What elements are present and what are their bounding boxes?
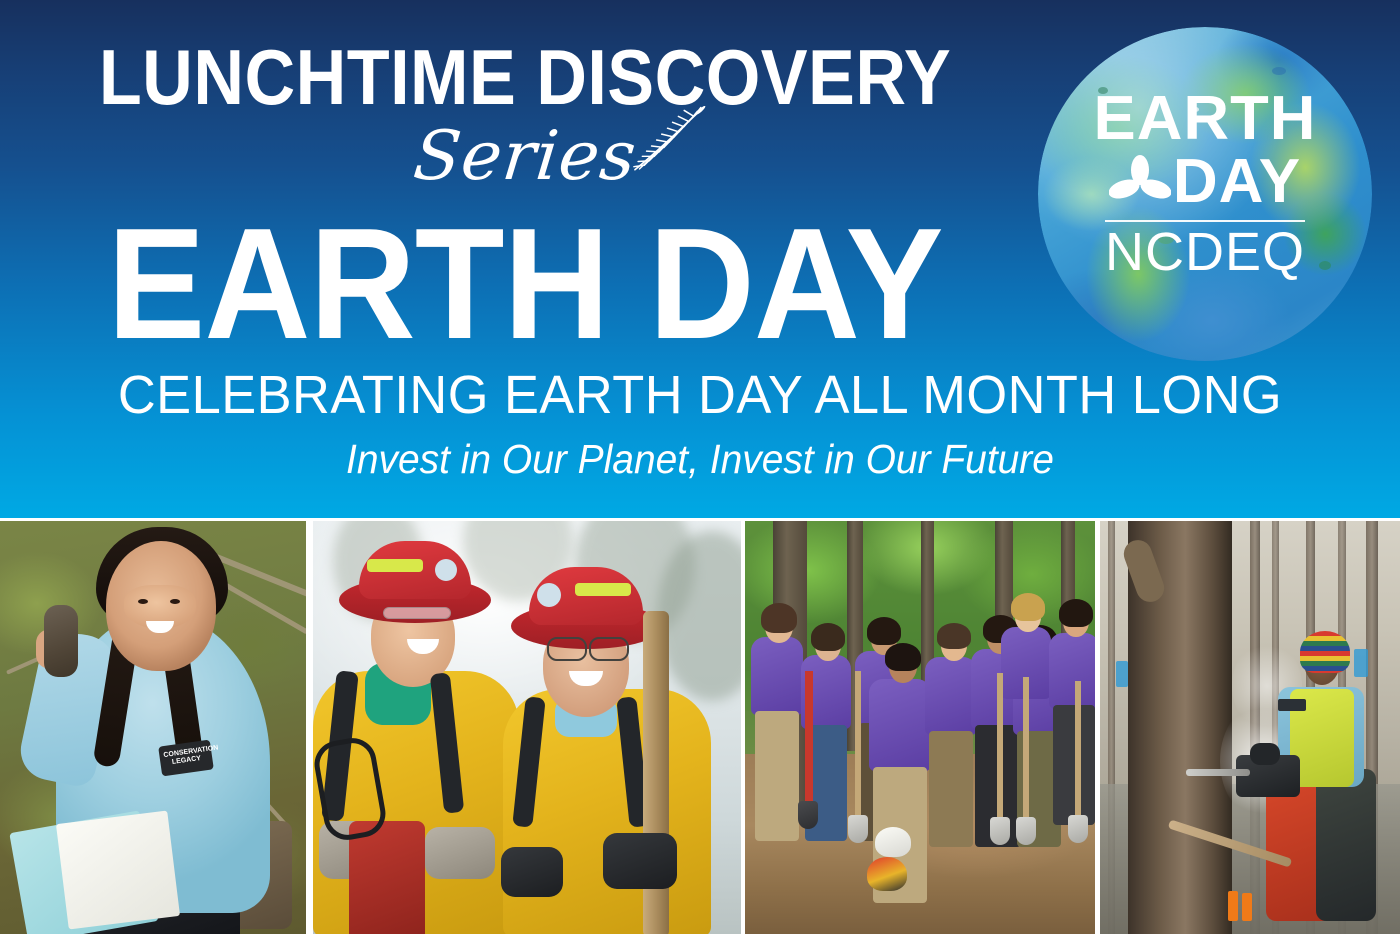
three-leaf-plant-icon [1109,153,1171,211]
logo-line-earth: EARTH [1038,89,1372,149]
series-script-text: Series [410,118,640,196]
logo-line-ncdeq: NCDEQ [1038,224,1372,280]
earth-day-ncdeq-globe-logo: EARTH DAY NCDEQ [1038,27,1372,361]
photo-strip: CONSERVATION LEGACY [0,518,1400,934]
earth-day-poster: LUNCHTIME DISCOVERY Series [0,0,1400,934]
photo-soil-sampler: CONSERVATION LEGACY [0,521,306,934]
series-title: LUNCHTIME DISCOVERY [53,38,998,116]
subtitle: CELEBRATING EARTH DAY ALL MONTH LONG [21,368,1379,422]
logo-text-block: EARTH DAY NCDEQ [1038,89,1372,280]
photo-trail-crew [745,521,1095,934]
fern-frond-icon [624,106,706,180]
logo-line-day: DAY [1173,151,1301,213]
photo-chainsaw-feller [1100,521,1400,934]
logo-divider-rule [1105,220,1305,222]
logo-day-row: DAY [1038,151,1372,213]
tagline: Invest in Our Planet, Invest in Our Futu… [35,437,1365,481]
photo-wildland-firefighters [313,521,741,934]
banner-header: LUNCHTIME DISCOVERY Series [0,0,1400,518]
page-title: EARTH DAY [37,205,1014,363]
